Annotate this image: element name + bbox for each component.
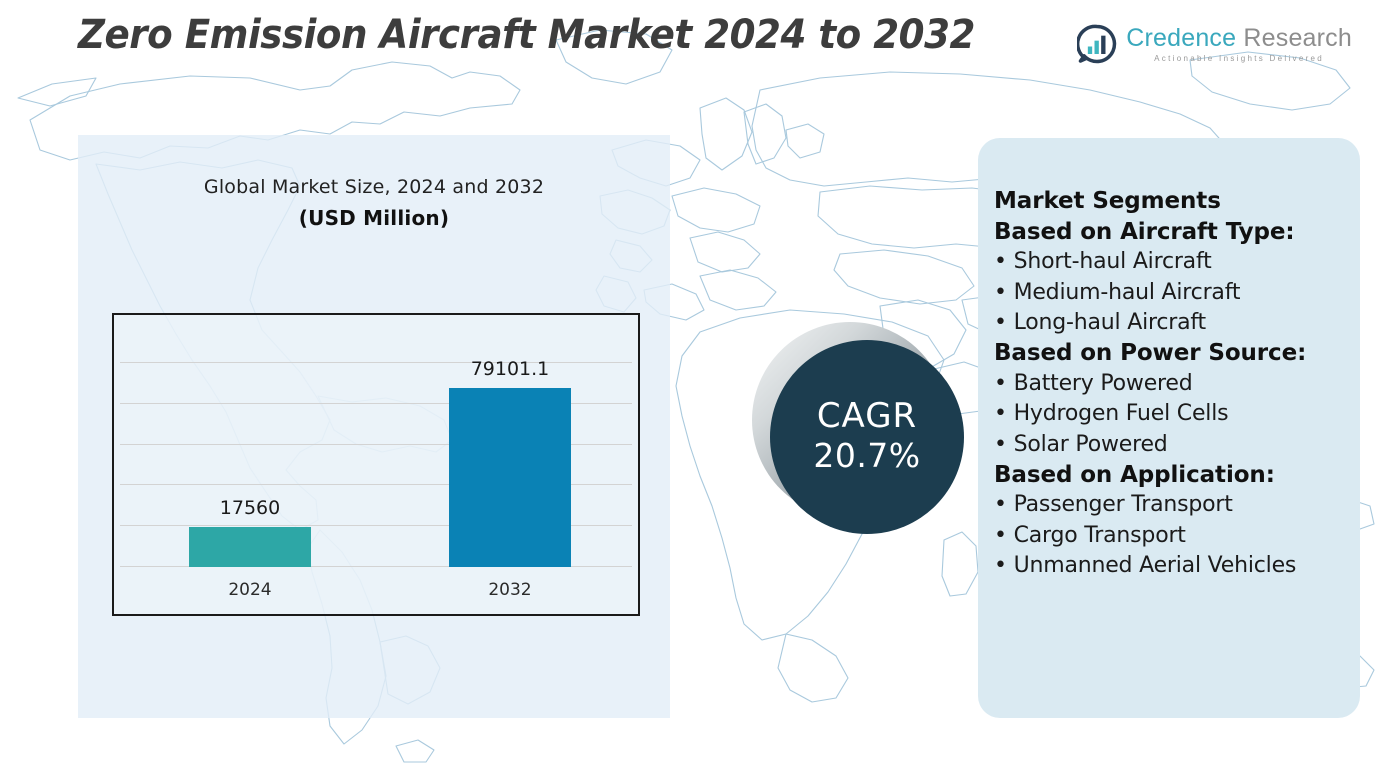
market-segments-list: Market Segments Based on Aircraft Type:•…	[978, 186, 1360, 582]
logo-brand-second: Research	[1243, 24, 1352, 52]
bar-2032	[449, 388, 571, 567]
segment-item: • Long-haul Aircraft	[994, 308, 1346, 338]
segment-group-heading-0: Based on Aircraft Type:	[994, 217, 1346, 248]
segment-item: • Passenger Transport	[994, 490, 1346, 520]
cagr-value: 20.7%	[813, 437, 920, 475]
category-label-2032: 2032	[440, 580, 580, 600]
segment-item: • Medium-haul Aircraft	[994, 278, 1346, 308]
segment-item: • Battery Powered	[994, 369, 1346, 399]
segment-item: • Short-haul Aircraft	[994, 247, 1346, 277]
category-label-2024: 2024	[180, 580, 320, 600]
chart-heading-line1: Global Market Size, 2024 and 2032	[78, 176, 670, 198]
logo-brand-first: Credence	[1126, 24, 1236, 52]
bar-2024	[189, 527, 311, 567]
bar-value-label-2024: 17560	[160, 497, 340, 519]
segment-groups: Based on Aircraft Type:• Short-haul Airc…	[994, 217, 1346, 582]
cagr-label: CAGR	[817, 399, 917, 435]
segment-item: • Solar Powered	[994, 430, 1346, 460]
cagr-circle: CAGR 20.7%	[770, 340, 964, 534]
cagr-badge: CAGR 20.7%	[752, 322, 964, 534]
segment-item: • Unmanned Aerial Vehicles	[994, 551, 1346, 581]
segments-title: Market Segments	[994, 186, 1346, 217]
logo-tagline: Actionable Insights Delivered	[1126, 55, 1352, 63]
infographic-page: Zero Emission Aircraft Market 2024 to 20…	[0, 0, 1380, 776]
page-title: Zero Emission Aircraft Market 2024 to 20…	[78, 12, 975, 58]
segment-item: • Hydrogen Fuel Cells	[994, 399, 1346, 429]
segment-group-heading-2: Based on Application:	[994, 460, 1346, 491]
bar-value-label-2032: 79101.1	[420, 358, 600, 380]
segment-item: • Cargo Transport	[994, 521, 1346, 551]
credence-chart-bubble-icon	[1077, 24, 1117, 64]
bar-chart: 17560202479101.12032	[112, 313, 640, 616]
chart-heading: Global Market Size, 2024 and 2032 (USD M…	[78, 176, 670, 230]
brand-logo: Credence Research Actionable Insights De…	[1077, 24, 1352, 64]
market-segments-panel: Market Segments Based on Aircraft Type:•…	[978, 138, 1360, 718]
segment-group-heading-1: Based on Power Source:	[994, 338, 1346, 369]
chart-heading-line2: (USD Million)	[78, 206, 670, 230]
